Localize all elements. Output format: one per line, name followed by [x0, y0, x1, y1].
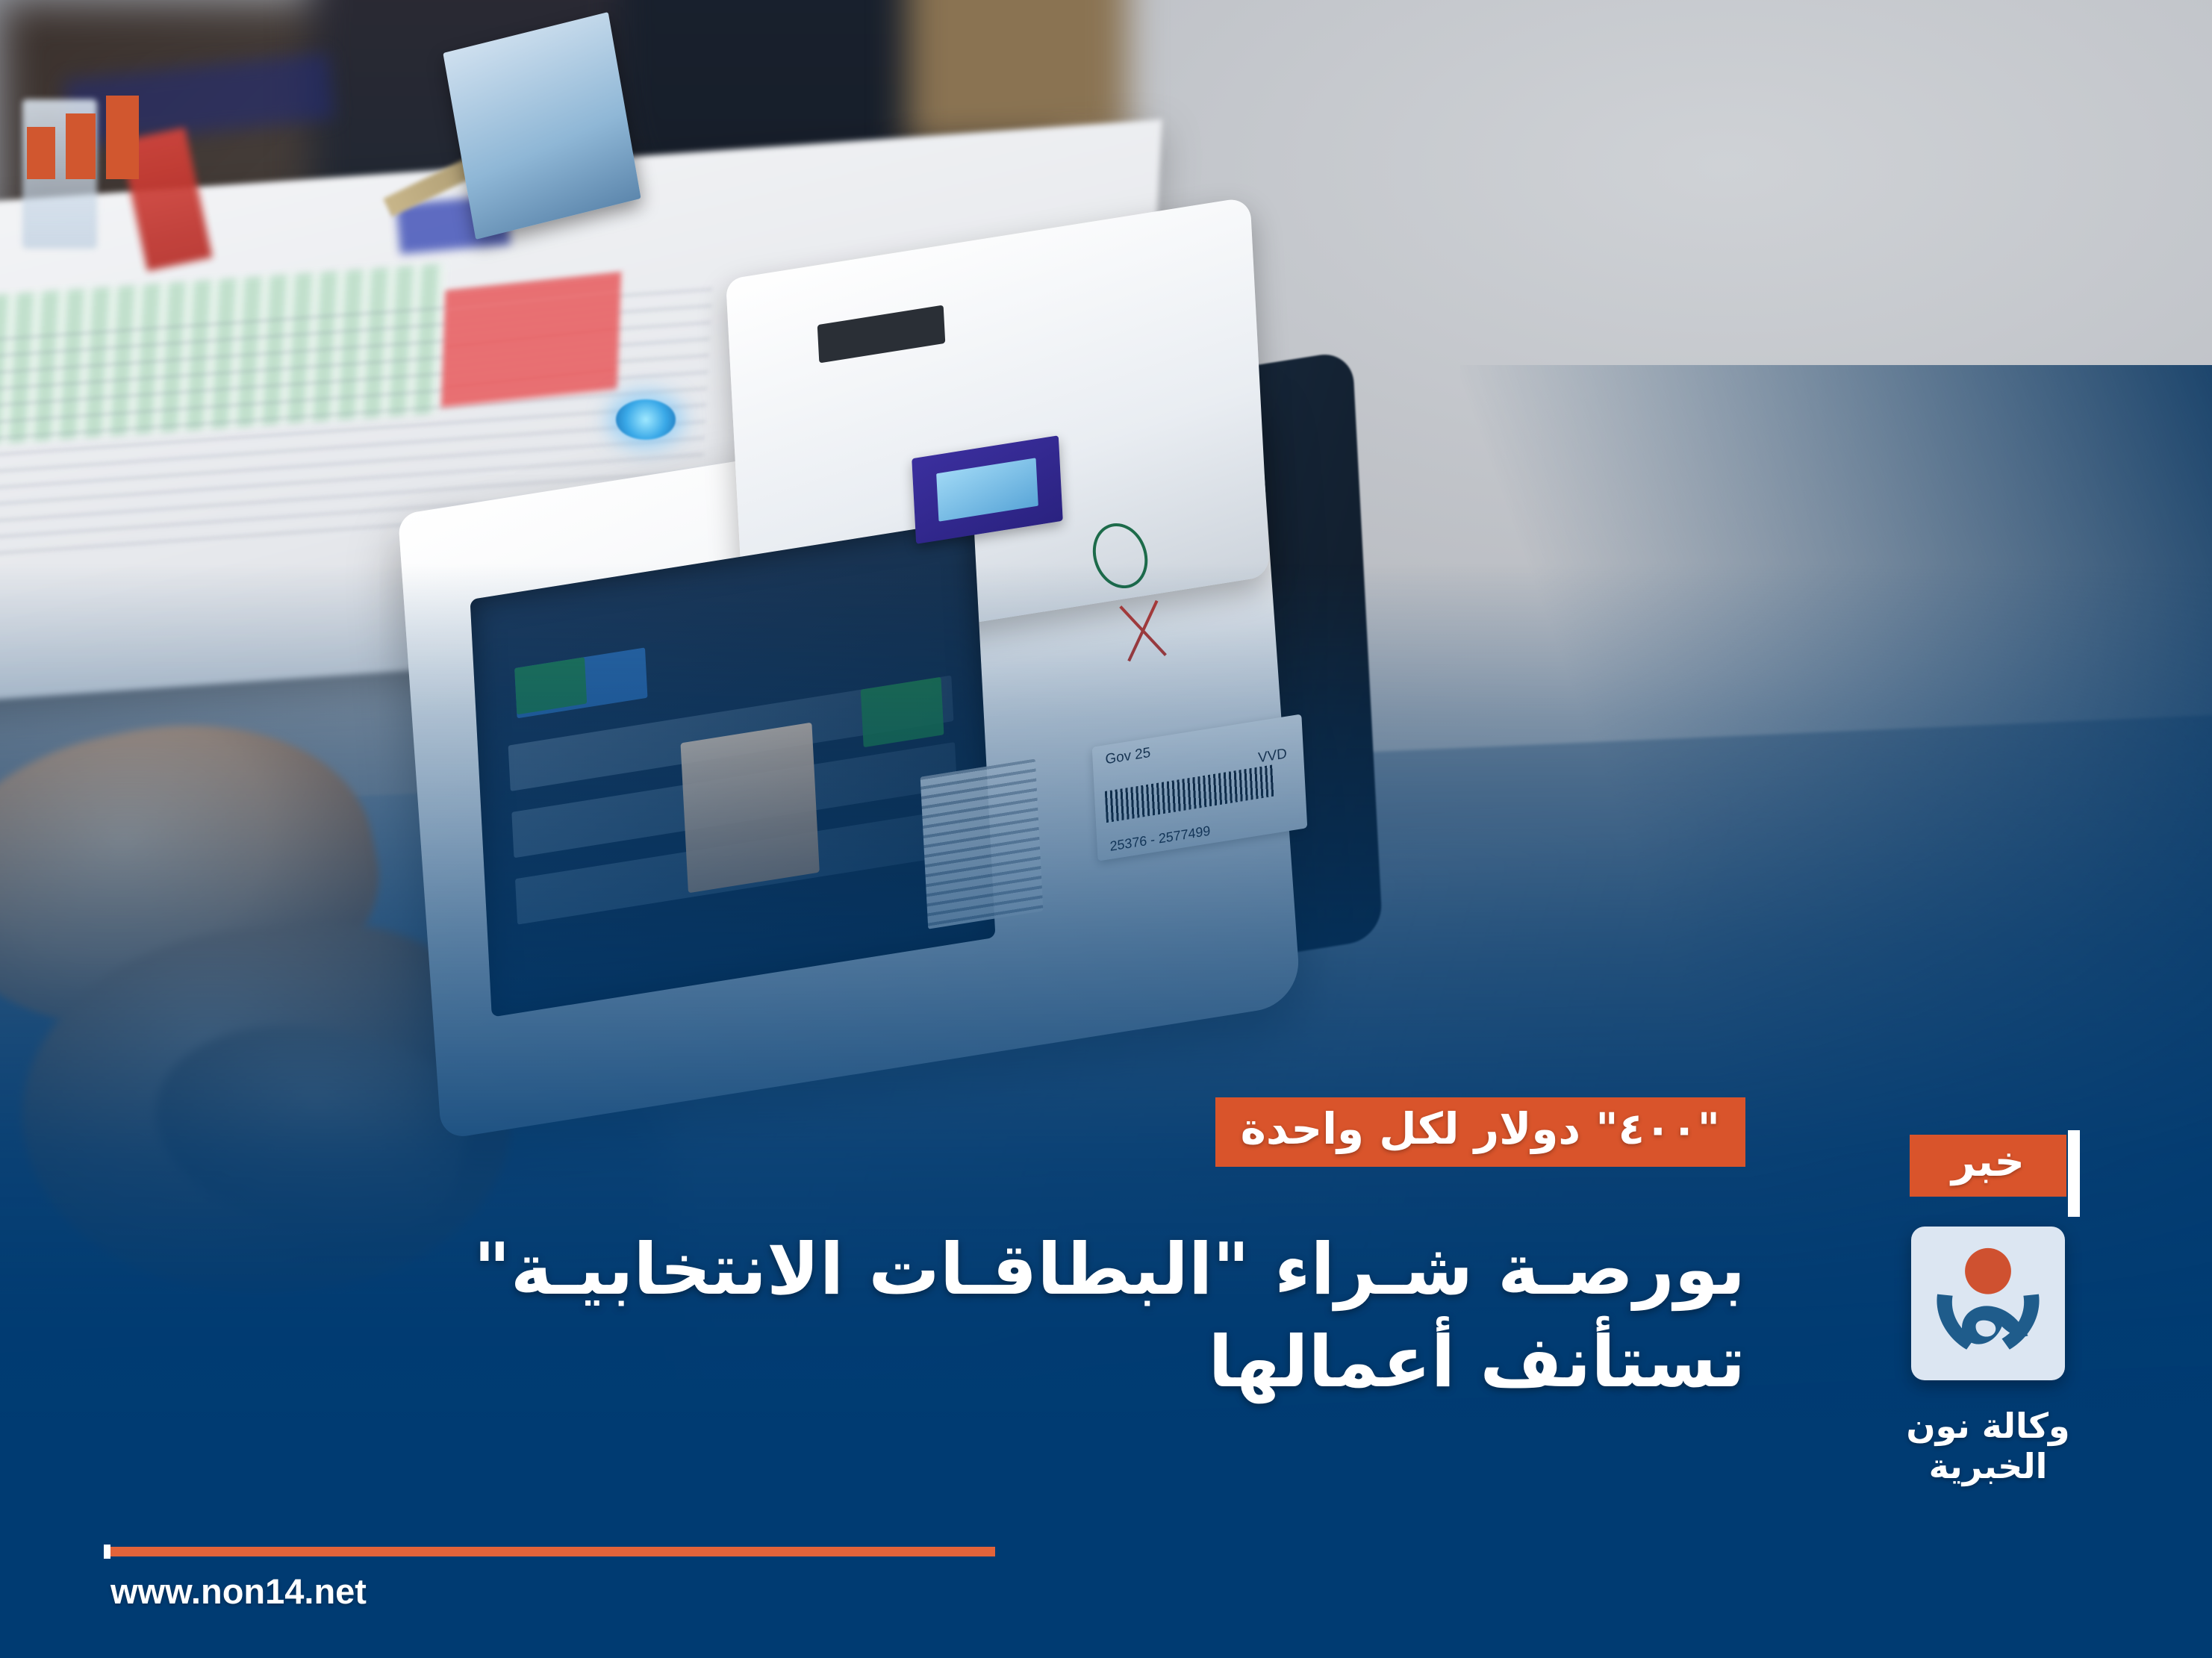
status-badge: خبر: [1910, 1135, 2066, 1197]
watermark-bar: [27, 127, 55, 179]
page-title: بورصـة شـراء "البطاقـات الانتخابيـة" تست…: [90, 1224, 1745, 1409]
headline-line-2: تستأنف أعمالها: [90, 1317, 1745, 1409]
kicker-badge: "٤٠٠" دولار لكل واحدة: [1215, 1097, 1745, 1167]
watermark-bar: [66, 113, 96, 179]
agency-logo: [1911, 1227, 2065, 1380]
news-tag-accent-bar: [2068, 1130, 2080, 1217]
non14-logo-icon: [1911, 1227, 2065, 1380]
headline-line-1: بورصـة شـراء "البطاقـات الانتخابيـة": [90, 1224, 1745, 1317]
news-tag-label: خبر: [1951, 1138, 2025, 1186]
device-inserted-card: [443, 12, 641, 240]
news-card: Gov 25 VVD 2577499 - 25376 "٤٠٠" دولار ل…: [0, 0, 2212, 1658]
watermark-bar: [106, 96, 139, 179]
three-bars-icon: [27, 96, 139, 179]
status-led-icon: [616, 399, 676, 439]
brand-column: خبر وكالة نون الخبرية: [1861, 1135, 2115, 1486]
agency-name: وكالة نون الخبرية: [1861, 1406, 2115, 1486]
site-url[interactable]: www.non14.net: [110, 1571, 367, 1612]
footer-divider: [110, 1547, 995, 1556]
